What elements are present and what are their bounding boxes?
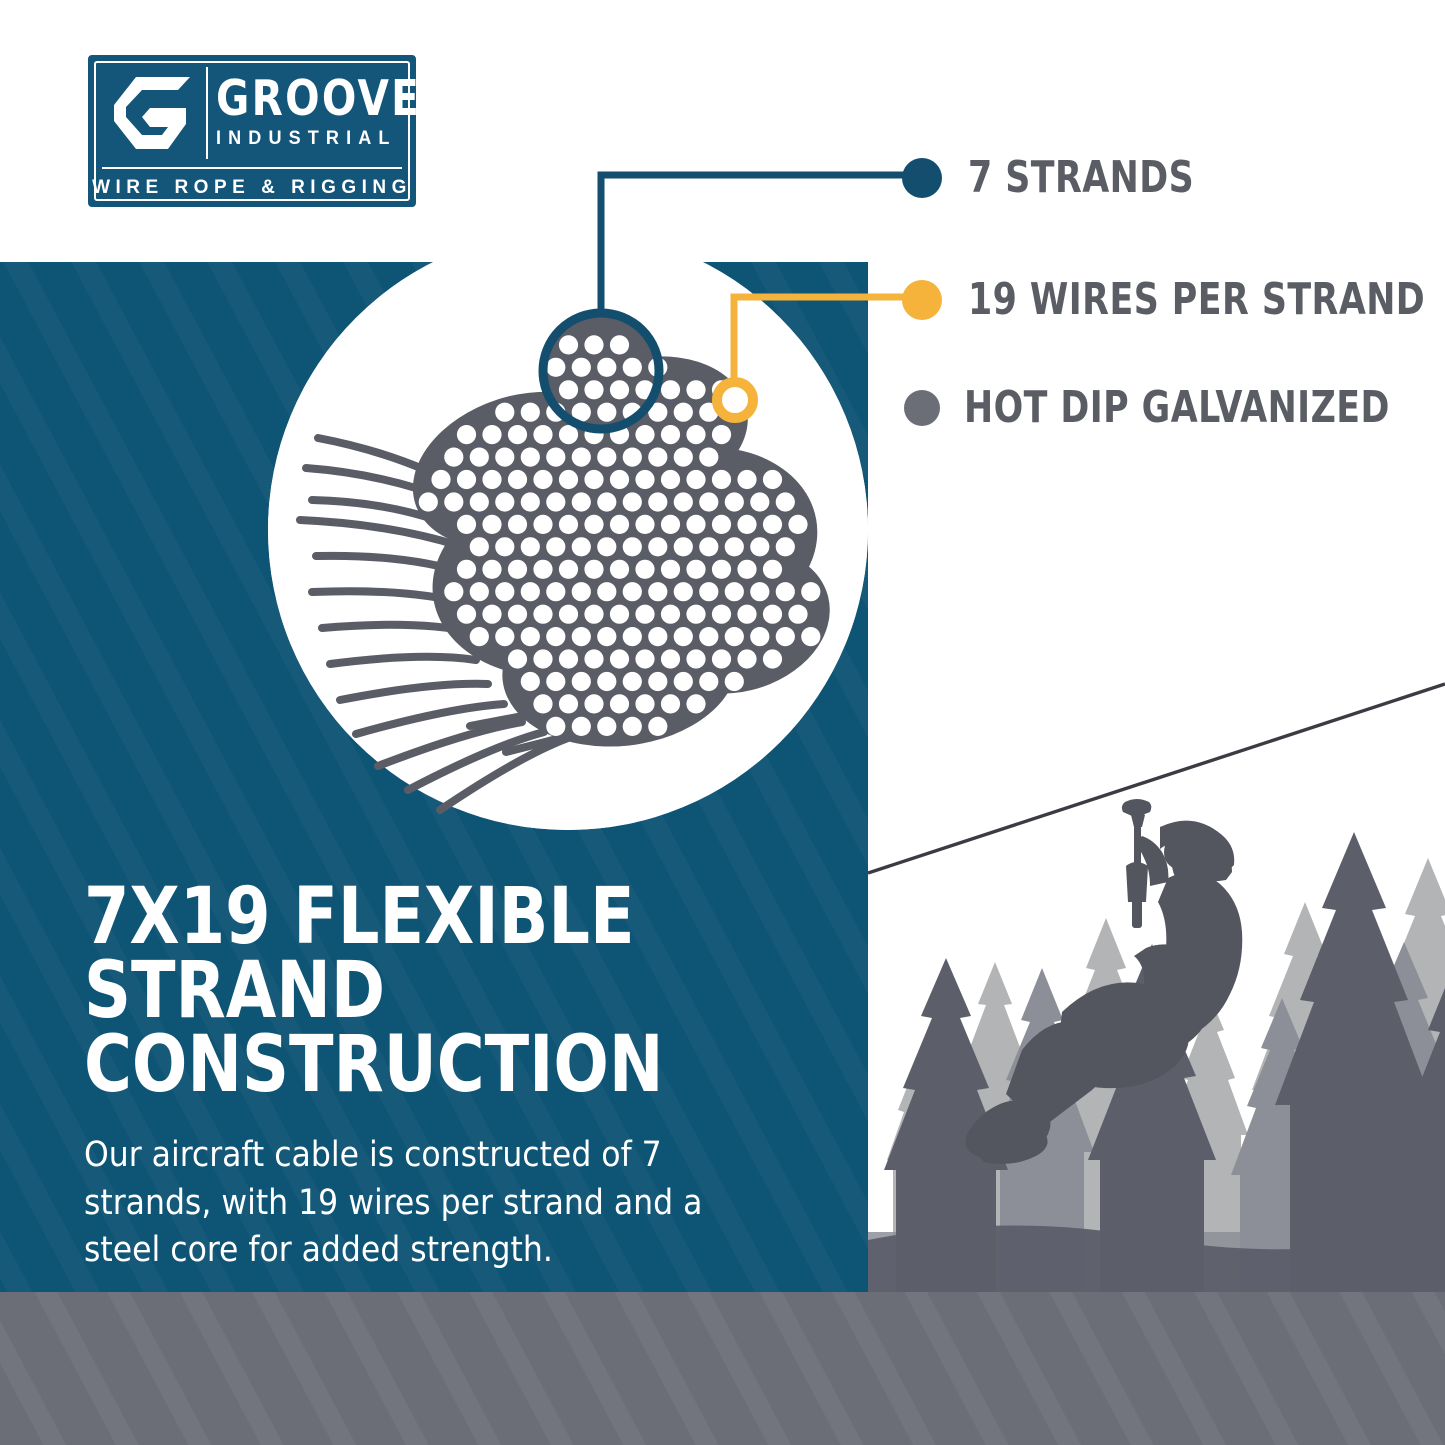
dot-icon [904, 390, 940, 426]
logo-tagline: WIRE ROPE & RIGGING [88, 173, 416, 203]
callout-strands[interactable]: 7 STRANDS [902, 152, 1225, 203]
infographic-canvas: GROOVE INDUSTRIAL WIRE ROPE & RIGGING 7 … [0, 0, 1445, 1445]
dot-icon [902, 280, 942, 320]
callout-label: HOT DIP GALVANIZED [964, 382, 1390, 433]
logo-wordmark: GROOVE INDUSTRIAL [216, 65, 402, 161]
brand-logo[interactable]: GROOVE INDUSTRIAL WIRE ROPE & RIGGING [88, 55, 416, 207]
wire-highlight-ring [717, 382, 753, 418]
footer-bar [0, 1292, 1445, 1445]
callout-label: 19 WIRES PER STRAND [968, 274, 1425, 325]
dot-icon [902, 158, 942, 198]
logo-word-primary: GROOVE [216, 76, 387, 121]
callout-hot-dip-galvanized[interactable]: HOT DIP GALVANIZED [902, 382, 1445, 433]
logo-divider [102, 167, 402, 169]
headline-line-2: STRAND CONSTRUCTION [84, 946, 664, 1110]
callout-wires-per-strand[interactable]: 19 WIRES PER STRAND [902, 274, 1445, 325]
callout-label: 7 STRANDS [968, 152, 1194, 203]
headline-block: 7X19 FLEXIBLESTRAND CONSTRUCTION Our air… [84, 880, 824, 1275]
groove-g-hexagon-icon [112, 77, 194, 149]
logo-word-secondary: INDUSTRIAL [216, 128, 393, 150]
page-title: 7X19 FLEXIBLESTRAND CONSTRUCTION [84, 880, 772, 1102]
logo-mark-box [102, 67, 208, 159]
headline-body: Our aircraft cable is constructed of 7 s… [84, 1132, 764, 1275]
